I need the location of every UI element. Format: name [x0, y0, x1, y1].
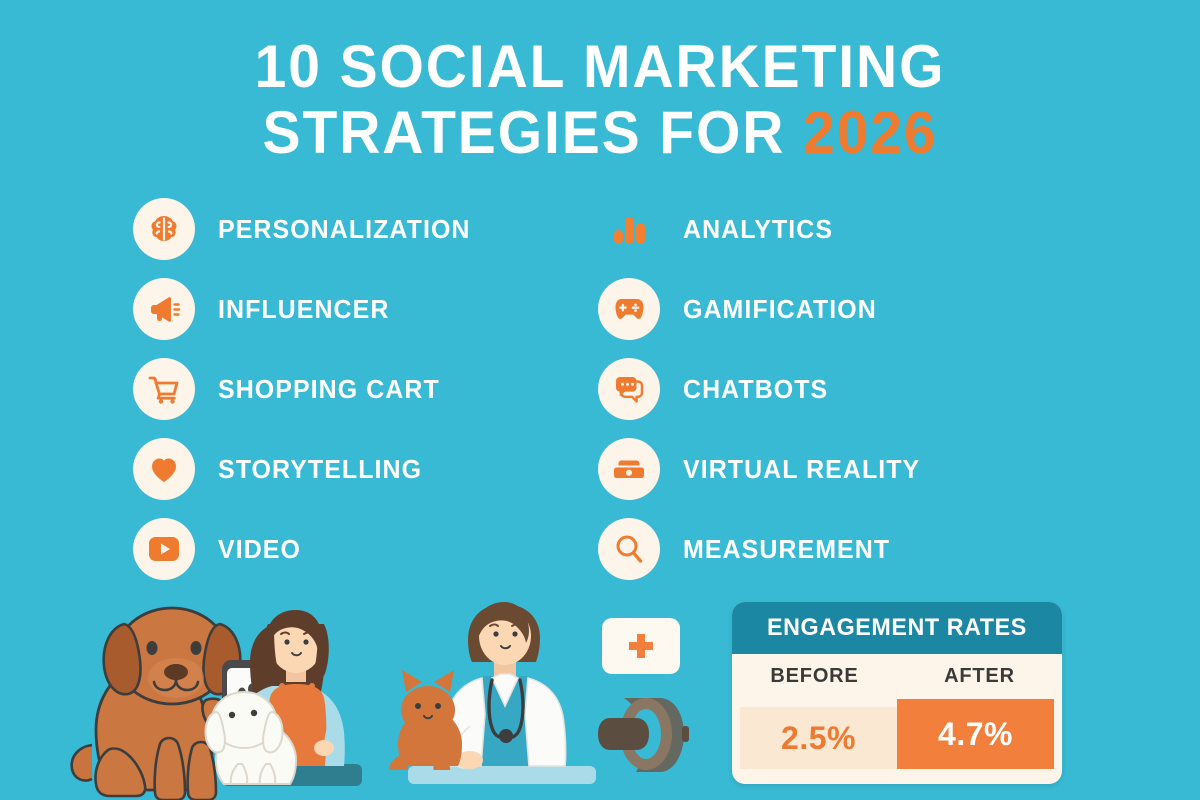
chat-bubbles-icon — [598, 358, 660, 420]
strategy-item-chatbots[interactable]: CHATBOTS — [598, 358, 930, 420]
vr-headset-object — [596, 692, 692, 783]
after-column: AFTER — [897, 665, 1062, 688]
strategy-label: SHOPPING CART — [218, 374, 440, 405]
strategy-label: INFLUENCER — [218, 294, 389, 325]
strategy-label: ANALYTICS — [683, 214, 833, 245]
veterinarian-with-orange-cat — [389, 602, 596, 784]
plus-icon — [621, 626, 661, 666]
strategy-item-virtual-reality[interactable]: VIRTUAL REALITY — [598, 438, 930, 500]
strategy-label: GAMIFICATION — [683, 294, 877, 325]
after-label: AFTER — [897, 665, 1062, 688]
infographic-canvas: 10 SOCIAL MARKETING STRATEGIES FOR 2026 … — [0, 0, 1200, 800]
page-title: 10 SOCIAL MARKETING STRATEGIES FOR 2026 — [0, 34, 1200, 166]
strategy-label: PERSONALIZATION — [218, 214, 471, 245]
strategy-list-left: PERSONALIZATION INFLUENCER — [133, 198, 481, 598]
strategy-item-shopping-cart[interactable]: SHOPPING CART — [133, 358, 481, 420]
before-label: BEFORE — [732, 665, 897, 688]
engagement-rates-card: ENGAGEMENT RATES BEFORE AFTER 2.5% 4.7% — [732, 602, 1062, 784]
strategy-item-gamification[interactable]: GAMIFICATION — [598, 278, 930, 340]
title-line-1: 10 SOCIAL MARKETING — [30, 34, 1170, 100]
before-column: BEFORE — [732, 665, 897, 688]
strategy-list-right: ANALYTICS GAMIFICATION — [598, 198, 930, 598]
medical-cross-card — [602, 618, 680, 674]
strategy-item-analytics[interactable]: ANALYTICS — [598, 198, 930, 260]
after-value: 4.7% — [938, 716, 1013, 753]
strategy-item-influencer[interactable]: INFLUENCER — [133, 278, 481, 340]
strategy-item-storytelling[interactable]: STORYTELLING — [133, 438, 481, 500]
card-column-headers: BEFORE AFTER — [732, 665, 1062, 688]
bar-chart-icon — [598, 198, 660, 260]
strategy-item-personalization[interactable]: PERSONALIZATION — [133, 198, 481, 260]
megaphone-icon — [133, 278, 195, 340]
brain-icon — [133, 198, 195, 260]
title-line-2-text: STRATEGIES FOR — [263, 99, 803, 166]
vr-headset-icon — [598, 438, 660, 500]
before-value: 2.5% — [781, 720, 856, 757]
before-bar: 2.5% — [740, 707, 897, 769]
after-bar: 4.7% — [897, 699, 1054, 769]
shopping-cart-icon — [133, 358, 195, 420]
comparison-bars: 2.5% 4.7% — [732, 699, 1062, 769]
title-line-2: STRATEGIES FOR 2026 — [30, 100, 1170, 166]
title-year: 2026 — [803, 99, 937, 166]
heart-icon — [133, 438, 195, 500]
strategy-label: VIRTUAL REALITY — [683, 454, 920, 485]
strategy-label: CHATBOTS — [683, 374, 828, 405]
card-title: ENGAGEMENT RATES — [767, 614, 1027, 642]
sitting-dog-with-phone — [72, 608, 241, 800]
gamepad-icon — [598, 278, 660, 340]
card-header: ENGAGEMENT RATES — [732, 602, 1062, 654]
strategy-label: STORYTELLING — [218, 454, 422, 485]
